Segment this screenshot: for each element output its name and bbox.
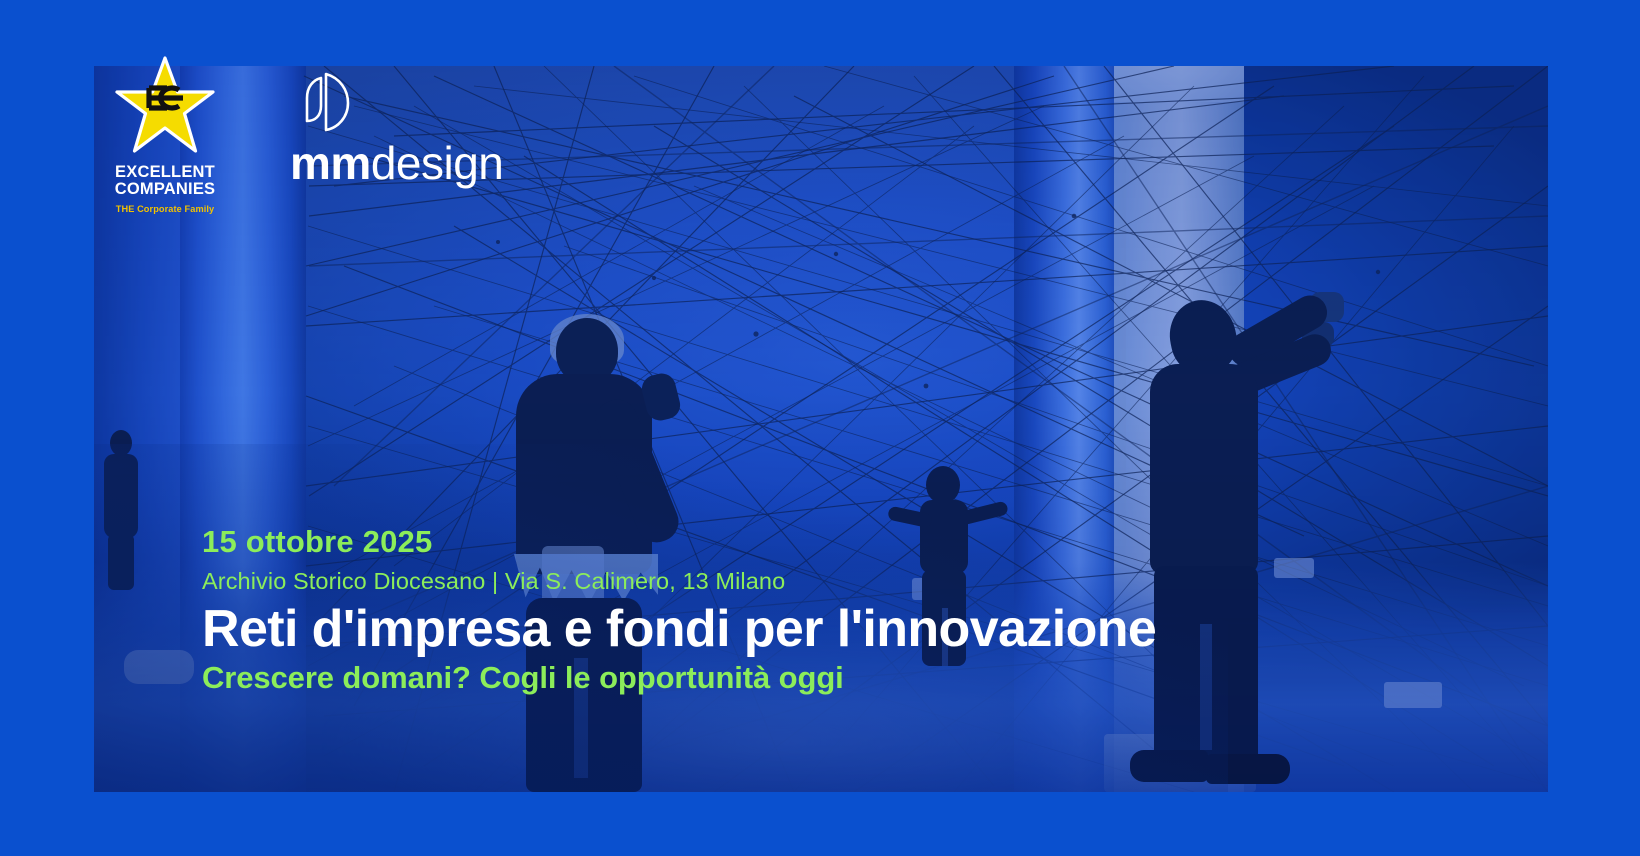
- ec-name-line1: EXCELLENT: [102, 164, 228, 181]
- event-subhead: Crescere domani? Cogli le opportunità og…: [202, 660, 1392, 696]
- visitor-silhouette-distant: [94, 430, 150, 590]
- mmdesign-wordmark: mmdesign: [290, 140, 500, 186]
- logo-mmdesign[interactable]: mmdesign: [290, 72, 500, 186]
- ec-tagline: THE Corporate Family: [102, 204, 228, 214]
- event-headline: Reti d'impresa e fondi per l'innovazione: [202, 602, 1392, 656]
- event-copy: 15 ottobre 2025 Archivio Storico Diocesa…: [202, 525, 1392, 696]
- mmdesign-word-bold: mm: [290, 137, 371, 189]
- event-date: 15 ottobre 2025: [202, 525, 1392, 559]
- logo-row: EXCELLENT COMPANIES THE Corporate Family…: [96, 44, 500, 224]
- ec-name-line2: COMPANIES: [102, 181, 228, 198]
- leaf-mark-icon: [296, 72, 352, 134]
- event-venue: Archivio Storico Diocesano | Via S. Cali…: [202, 567, 1392, 595]
- mmdesign-word-light: design: [371, 137, 504, 189]
- logo-excellent-companies[interactable]: EXCELLENT COMPANIES THE Corporate Family: [96, 44, 234, 224]
- floor-object: [1384, 682, 1442, 708]
- event-banner: EXCELLENT COMPANIES THE Corporate Family…: [0, 0, 1640, 856]
- star-icon: [113, 56, 217, 156]
- ec-name: EXCELLENT COMPANIES: [102, 164, 228, 199]
- floor-object: [124, 650, 194, 684]
